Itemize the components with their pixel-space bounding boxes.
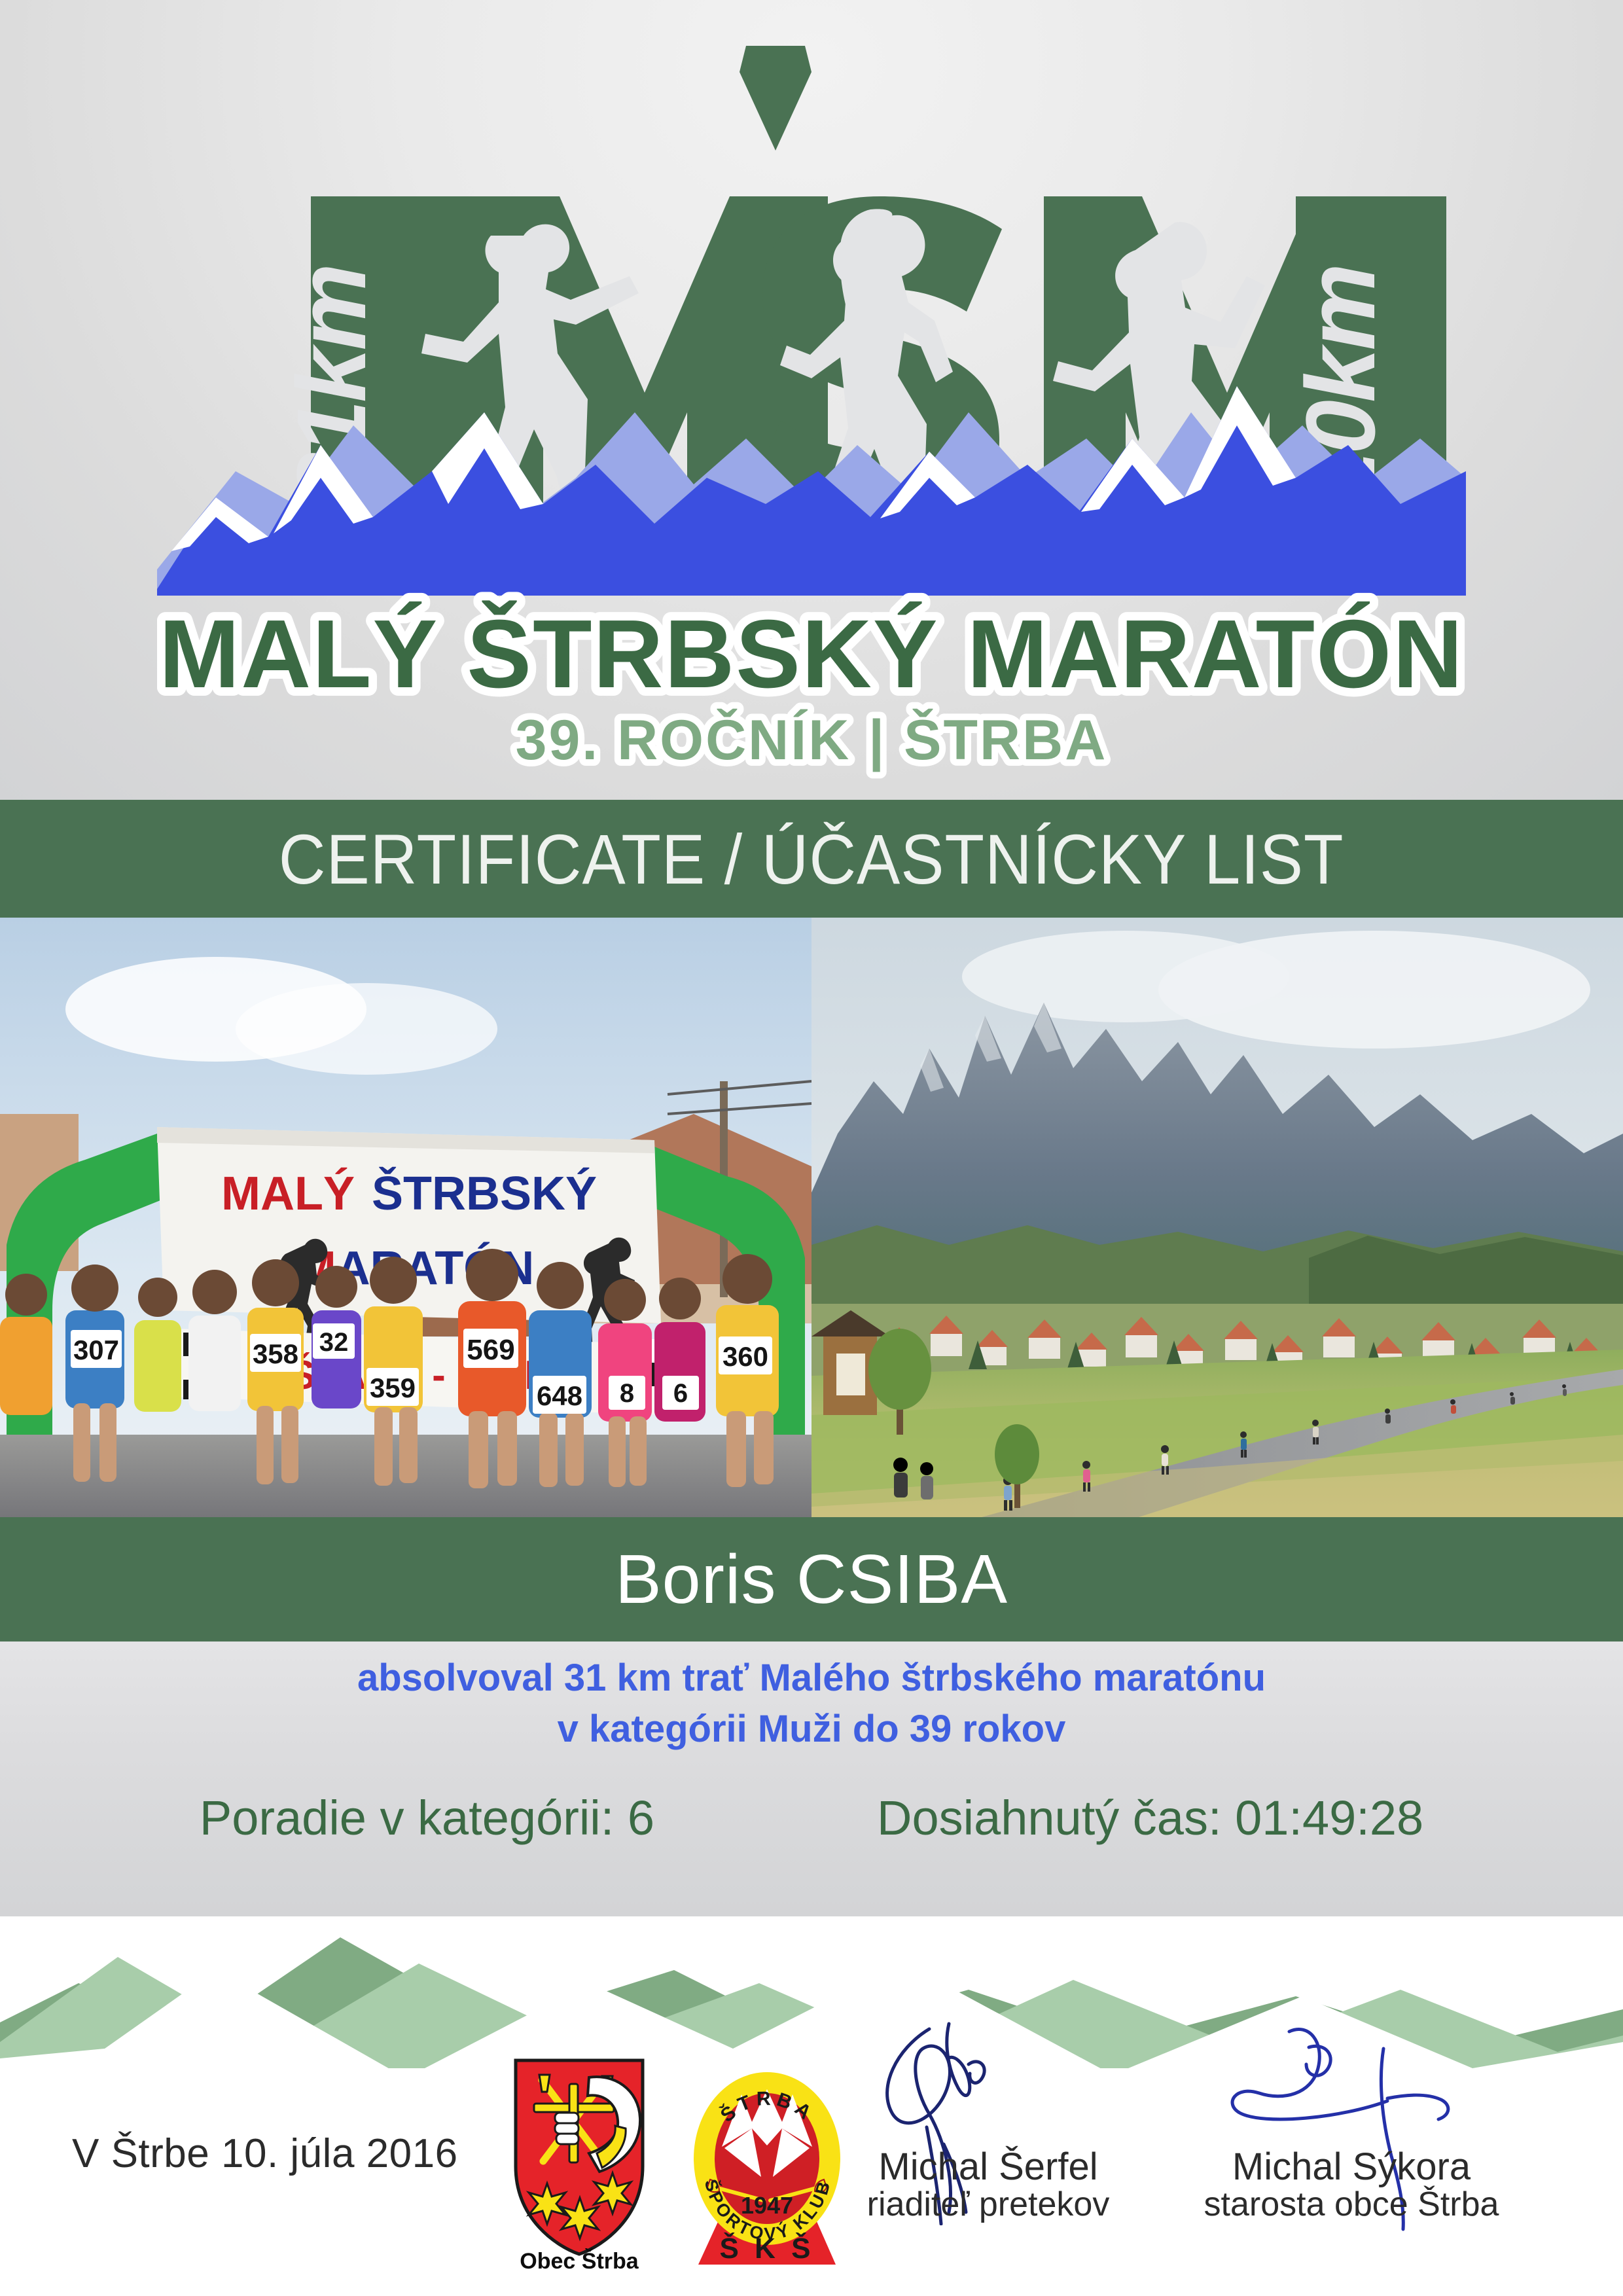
msm-logo-svg: 31km xyxy=(157,20,1466,792)
photo-start-line-svg: MALÝŠTRBSKÝ MARATÓN xyxy=(0,918,811,1517)
sks-year: 1947 xyxy=(741,2192,793,2219)
header-logo-area: 31km xyxy=(0,0,1623,800)
signature-name-1: Michal Šerfel xyxy=(844,2147,1132,2187)
finish-time: Dosiahnutý čas: 01:49:28 xyxy=(877,1790,1423,1846)
signature-role-2: starosta obce Štrba xyxy=(1198,2187,1505,2223)
certificate-page: 31km xyxy=(0,0,1623,2296)
description-line-2: v kategórii Muži do 39 rokov xyxy=(0,1707,1623,1751)
event-title-group: MALÝ ŠTRBSKÝ MARATÓN MALÝ ŠTRBSKÝ MARATÓ… xyxy=(159,600,1464,772)
photo-tatra-panorama xyxy=(811,918,1623,1517)
obec-strba-label: Obec Štrba xyxy=(520,2248,639,2271)
photo-strip: MALÝŠTRBSKÝ MARATÓN xyxy=(0,918,1623,1517)
svg-text:32: 32 xyxy=(319,1328,349,1357)
signature-name-2: Michal Sýkora xyxy=(1198,2147,1505,2187)
signature-block-2: Michal Sýkora starosta obce Štrba xyxy=(1198,2147,1505,2223)
svg-text:358: 358 xyxy=(253,1338,298,1369)
svg-text:6: 6 xyxy=(673,1379,688,1408)
svg-text:360: 360 xyxy=(722,1341,768,1372)
certificate-banner: CERTIFICATE / ÚČASTNÍCKY LIST xyxy=(0,800,1623,918)
photo-start-line: MALÝŠTRBSKÝ MARATÓN xyxy=(0,918,811,1517)
certificate-banner-text: CERTIFICATE / ÚČASTNÍCKY LIST xyxy=(279,818,1344,900)
arch-title-line1: MALÝŠTRBSKÝ xyxy=(221,1167,597,1220)
issue-date: V Štrbe 10. júla 2016 xyxy=(72,2130,458,2177)
svg-text:359: 359 xyxy=(370,1372,416,1403)
svg-text:569: 569 xyxy=(467,1334,514,1366)
signature-role-1: riaditeľ pretekov xyxy=(844,2187,1132,2223)
caron-accent xyxy=(740,46,811,151)
sks-club-emblem: 1947 ŠTRBA ŠPORTOVÝ KLUB Š K Š xyxy=(684,2049,851,2274)
svg-text:307: 307 xyxy=(73,1335,119,1365)
msm-logo: 31km xyxy=(0,0,1623,800)
participant-name-bar: Boris CSIBA xyxy=(0,1517,1623,1641)
participant-name: Boris CSIBA xyxy=(615,1540,1008,1619)
description-line-1: absolvoval 31 km trať Malého štrbského m… xyxy=(0,1656,1623,1700)
svg-text:648: 648 xyxy=(537,1380,582,1411)
result-row: Poradie v kategórii: 6 Dosiahnutý čas: 0… xyxy=(0,1790,1623,1846)
sks-initials: Š K Š xyxy=(720,2231,815,2265)
rank-in-category: Poradie v kategórii: 6 xyxy=(200,1790,654,1846)
obec-strba-emblem: Obec Štrba xyxy=(504,2055,654,2271)
event-title-fill: MALÝ ŠTRBSKÝ MARATÓN xyxy=(159,600,1464,708)
photo-tatra-svg xyxy=(811,918,1623,1517)
event-subtitle-fill: 39. ROČNÍK | ŠTRBA xyxy=(516,709,1108,772)
svg-text:8: 8 xyxy=(620,1379,634,1408)
signature-block-1: Michal Šerfel riaditeľ pretekov xyxy=(844,2147,1132,2223)
